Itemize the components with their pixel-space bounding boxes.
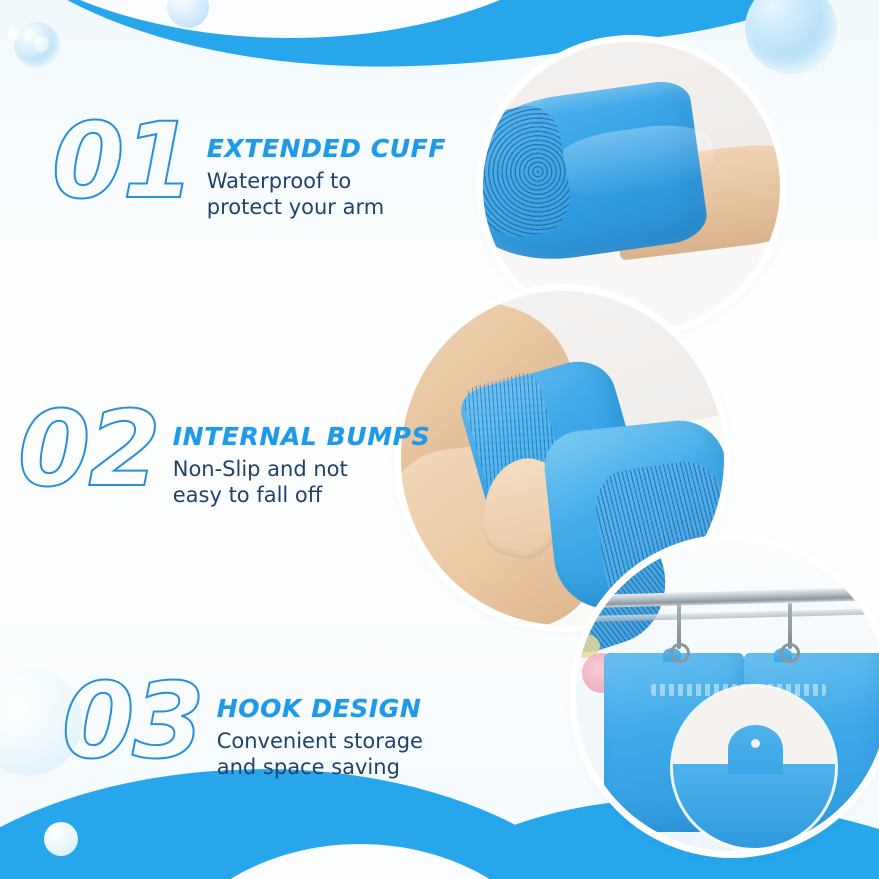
feature-title-03: HOOK DESIGN xyxy=(217,694,423,723)
feature-description-02-line1: Non-Slip and not xyxy=(173,457,430,483)
feature-title-02: INTERNAL BUMPS xyxy=(173,422,430,451)
infographic-canvas: 01 EXTENDED CUFF Waterproof to protect y… xyxy=(0,0,879,879)
feature-number-01: 01 xyxy=(52,112,207,211)
inset-hook-peak xyxy=(728,725,783,773)
feature-description-02: Non-Slip and not easy to fall off xyxy=(173,457,430,508)
feature-list: 01 EXTENDED CUFF Waterproof to protect y… xyxy=(0,0,470,879)
feature-description-01-line1: Waterproof to xyxy=(207,169,446,195)
inset-hook-hole xyxy=(751,739,760,748)
hook-ring-icon xyxy=(670,643,690,663)
feature-text-03: HOOK DESIGN Convenient storage and space… xyxy=(217,672,423,780)
feature-photo-hook-design xyxy=(576,541,879,851)
feature-text-02: INTERNAL BUMPS Non-Slip and not easy to … xyxy=(173,400,430,508)
feature-title-01: EXTENDED CUFF xyxy=(207,134,446,163)
hook-detail-inset xyxy=(673,687,835,848)
hook-wire xyxy=(788,603,792,649)
feature-description-03: Convenient storage and space saving xyxy=(217,729,423,780)
feature-item-02: 02 INTERNAL BUMPS Non-Slip and not easy … xyxy=(18,400,430,508)
feature-description-01: Waterproof to protect your arm xyxy=(207,169,446,220)
feature-photo-extended-cuff xyxy=(483,42,780,332)
feature-text-01: EXTENDED CUFF Waterproof to protect your… xyxy=(207,112,446,220)
feature-description-03-line1: Convenient storage xyxy=(217,729,423,755)
feature-description-01-line2: protect your arm xyxy=(207,195,446,221)
feature-number-02: 02 xyxy=(18,400,173,499)
feature-item-01: 01 EXTENDED CUFF Waterproof to protect y… xyxy=(52,112,446,220)
feature-number-03: 03 xyxy=(62,672,217,771)
inset-glove-surface xyxy=(673,764,835,848)
feature-item-03: 03 HOOK DESIGN Convenient storage and sp… xyxy=(62,672,423,780)
feature-description-02-line2: easy to fall off xyxy=(173,483,430,509)
feature-description-03-line2: and space saving xyxy=(217,755,423,781)
hook-wire xyxy=(677,603,681,649)
